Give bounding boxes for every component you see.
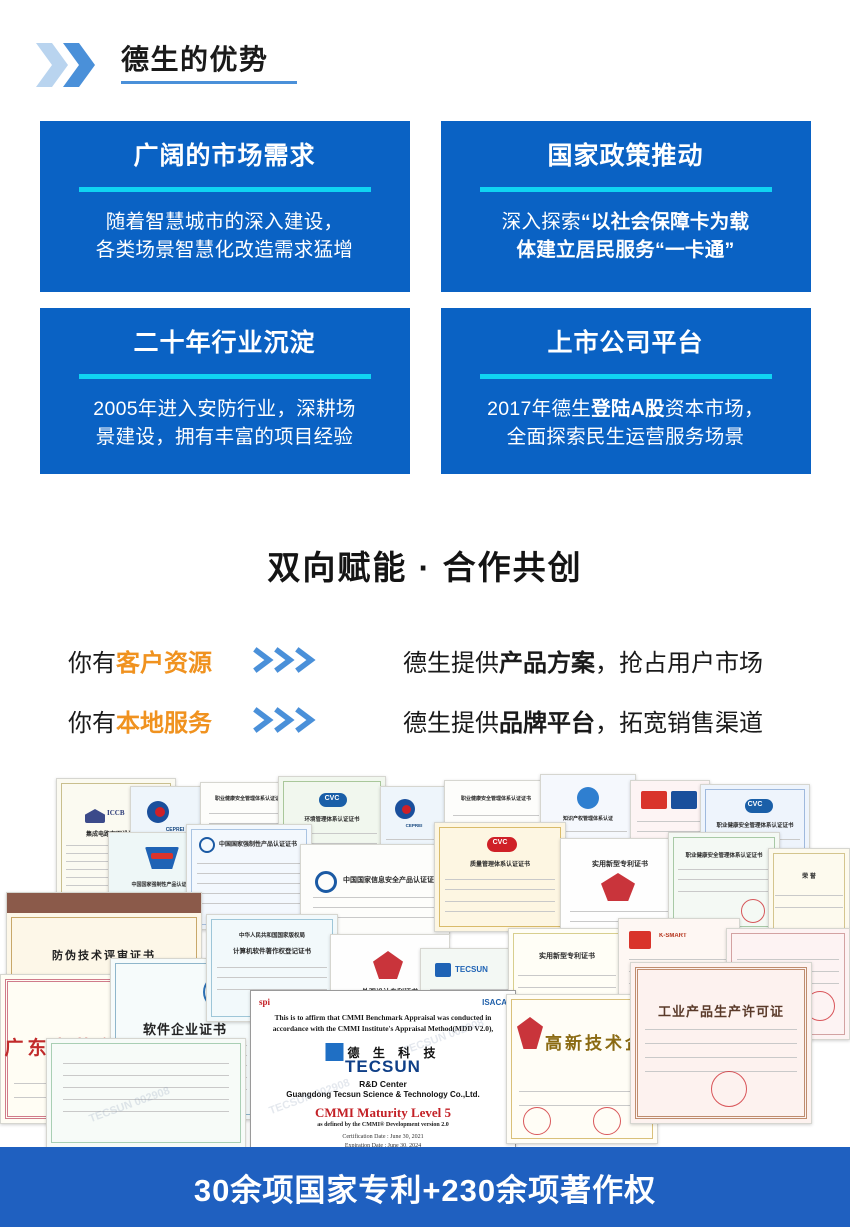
cmmi-company: Guangdong Tecsun Science & Technology Co… <box>251 1090 515 1099</box>
card-body-line: 2005年进入安防行业，深耕场 <box>60 395 390 423</box>
card-body: 2017年德生登陆A股资本市场， 全面探索民生运营服务场景 <box>461 395 791 452</box>
advantage-card: 广阔的市场需求 随着智慧城市的深入建设， 各类场景智慧化改造需求猛增 <box>40 121 410 292</box>
triple-chevron-right-icon <box>253 647 319 673</box>
chevron-dark-icon <box>63 43 95 87</box>
synergy-right-prefix: 德生提供 <box>403 710 499 737</box>
card-body: 2005年进入安防行业，深耕场 景建设，拥有丰富的项目经验 <box>60 395 390 452</box>
triple-chevron-right-icon <box>253 707 319 733</box>
synergy-right-suffix: ，拓宽销售渠道 <box>595 710 763 737</box>
synergy-row: 你有本地服务 德生提供品牌平台，拓宽销售渠道 <box>0 690 850 750</box>
synergy-arrow-group <box>243 707 403 733</box>
card-body-line: 2017年德生登陆A股资本市场， <box>461 395 791 423</box>
chevron-group <box>36 43 95 87</box>
cmmi-defined: as defined by the CMMI® Development vers… <box>251 1122 515 1128</box>
banner-text: 30余项国家专利+230余项著作权 <box>194 1165 656 1210</box>
synergy-left-highlight: 本地服务 <box>116 710 212 737</box>
synergy-left: 你有本地服务 <box>68 703 243 738</box>
card-body-line: 各类场景智慧化改造需求猛增 <box>60 236 390 264</box>
synergy-left-prefix: 你有 <box>68 710 116 737</box>
card-divider <box>79 374 371 379</box>
synergy-row: 你有客户资源 德生提供产品方案，抢占用户市场 <box>0 630 850 690</box>
card-divider <box>480 374 772 379</box>
page-title: 德生的优势 <box>121 46 297 84</box>
spi-logo: spi <box>259 997 270 1007</box>
certificate-thumb: 职业健康安全管理体系认证证书 <box>668 832 780 932</box>
synergy-right-prefix: 德生提供 <box>403 650 499 677</box>
tecsun-wordmark: TECSUN <box>345 1057 421 1077</box>
card-body-line: 景建设，拥有丰富的项目经验 <box>60 423 390 451</box>
advantage-card: 二十年行业沉淀 2005年进入安防行业，深耕场 景建设，拥有丰富的项目经验 <box>40 308 410 474</box>
card-body: 随着智慧城市的深入建设， 各类场景智慧化改造需求猛增 <box>60 208 390 265</box>
certificate-thumb: TECSUN 002908 <box>46 1038 246 1147</box>
synergy-right-highlight: 产品方案 <box>499 650 595 677</box>
card-title: 二十年行业沉淀 <box>60 330 390 358</box>
synergy-arrow-group <box>243 647 403 673</box>
certificate-thumb: CVC 质量管理体系认证证书 <box>434 822 566 932</box>
cmmi-level: CMMI Maturity Level 5 <box>251 1105 515 1121</box>
synergy-right: 德生提供产品方案，抢占用户市场 <box>403 643 763 678</box>
synergy-right: 德生提供品牌平台，拓宽销售渠道 <box>403 703 763 738</box>
synergy-title: 双向赋能 · 合作共创 <box>0 541 850 589</box>
isaca-logo: ISACA <box>482 998 507 1007</box>
tecsun-mark <box>325 1043 343 1061</box>
card-body-line: 深入探索“以社会保障卡为载 <box>461 208 791 236</box>
cmmi-dates: Certification Date : June 30, 2021 Expir… <box>251 1133 515 1147</box>
cmmi-affirm: This is to affirm that CMMI Benchmark Ap… <box>261 1013 505 1034</box>
synergy-left: 你有客户资源 <box>68 643 243 678</box>
card-body-line: 随着智慧城市的深入建设， <box>60 208 390 236</box>
advantage-card-grid: 广阔的市场需求 随着智慧城市的深入建设， 各类场景智慧化改造需求猛增 国家政策推… <box>0 121 850 474</box>
synergy-rows: 你有客户资源 德生提供产品方案，抢占用户市场 你有本地服务 <box>0 630 850 750</box>
advantage-card: 国家政策推动 深入探索“以社会保障卡为载 体建立居民服务“一卡通” <box>441 121 811 292</box>
card-body-line: 体建立居民服务“一卡通” <box>461 236 791 264</box>
cmmi-certificate: spi ISACA This is to affirm that CMMI Be… <box>250 990 516 1147</box>
synergy-left-prefix: 你有 <box>68 650 116 677</box>
card-body: 深入探索“以社会保障卡为载 体建立居民服务“一卡通” <box>461 208 791 265</box>
synergy-right-highlight: 品牌平台 <box>499 710 595 737</box>
section-header: 德生的优势 <box>0 34 850 96</box>
bottom-banner: 30余项国家专利+230余项著作权 <box>0 1147 850 1227</box>
card-divider <box>480 187 772 192</box>
cmmi-center: R&D Center <box>251 1079 515 1089</box>
synergy-left-highlight: 客户资源 <box>116 650 212 677</box>
synergy-right-suffix: ，抢占用户市场 <box>595 650 763 677</box>
certificate-collage: ICCB 集成电路布图设计证书 CEPREI AAAA 职业健康安全管理体系认证… <box>0 762 850 1147</box>
card-title: 国家政策推动 <box>461 143 791 171</box>
advantage-card: 上市公司平台 2017年德生登陆A股资本市场， 全面探索民生运营服务场景 <box>441 308 811 474</box>
card-body-line: 全面探索民生运营服务场景 <box>461 423 791 451</box>
card-divider <box>79 187 371 192</box>
certificate-thumb: 工业产品生产许可证 <box>630 962 812 1124</box>
card-title: 上市公司平台 <box>461 330 791 358</box>
card-title: 广阔的市场需求 <box>60 143 390 171</box>
